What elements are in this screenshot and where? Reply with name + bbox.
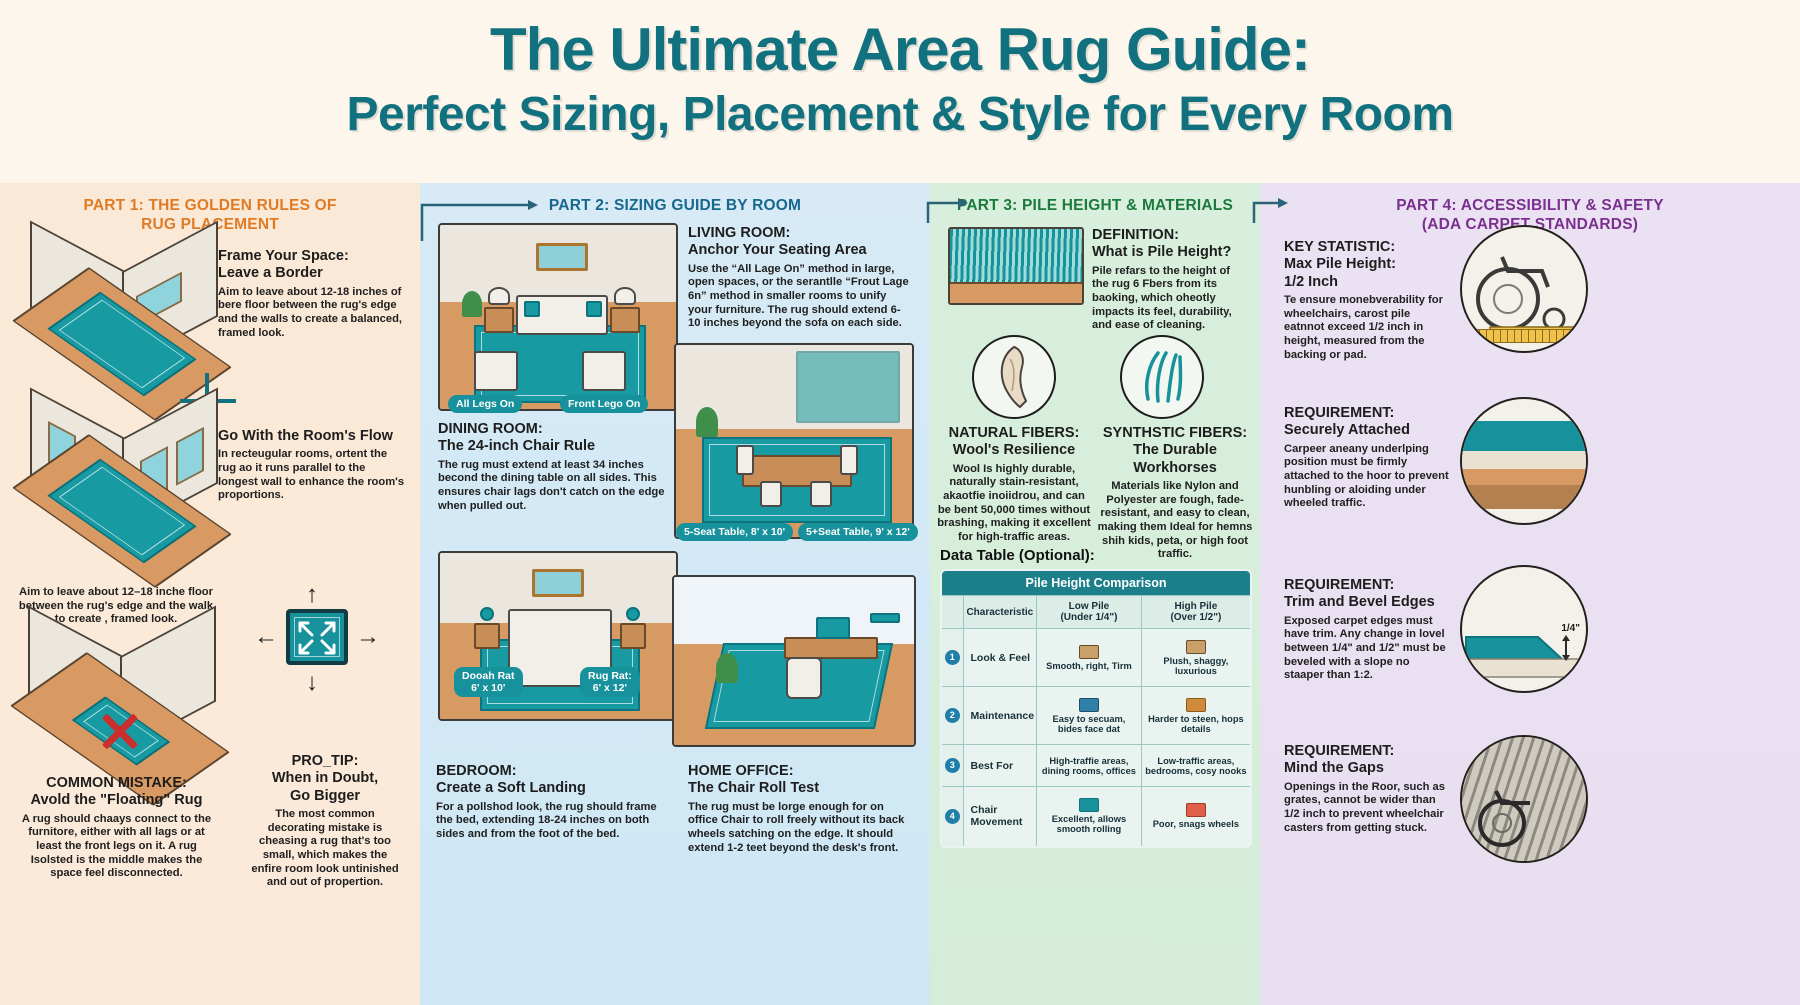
layer-underlay — [1462, 451, 1588, 469]
row-low-pile: High-traffie areas, dining rooms, office… — [1037, 745, 1142, 787]
part1-heading-line1: PART 1: THE GOLDEN RULES OF — [0, 196, 420, 215]
synthetic-body: Materials like Nylon and Polyester are f… — [1096, 480, 1254, 562]
synthetic-fiber-icon — [1120, 335, 1204, 419]
row-index: 1 — [941, 629, 963, 687]
lamp-right — [626, 607, 640, 621]
part4-key-statistic: KEY STATISTIC: Max Pile Height: 1/2 Inch… — [1284, 239, 1446, 362]
col-low-pile-header: Low Pile (Under 1/4") — [1037, 596, 1142, 629]
pile-height-illustration — [948, 227, 1084, 305]
bedroom-body: For a pollshod look, the rug should fram… — [436, 801, 670, 842]
shaggy-rug-icon — [1186, 640, 1206, 654]
tag-line1: Rug Rat: — [588, 670, 632, 682]
living-title: Anchor Your Seating Area — [688, 242, 910, 259]
part1-tip-frame-your-space: Frame Your Space: Leave a Border Aim to … — [218, 248, 404, 340]
protip-body: The most common decorating mistake is ch… — [250, 808, 400, 890]
throw-pillow — [524, 301, 540, 317]
row-characteristic: Look & Feel — [963, 629, 1037, 687]
arrow-right-icon: → — [356, 625, 380, 649]
dining-chair — [810, 481, 832, 507]
protip-line2: Go Bigger — [250, 788, 400, 805]
wool-fiber-icon — [972, 335, 1056, 419]
throw-pillow — [586, 301, 602, 317]
layer-carpet — [1462, 421, 1588, 451]
stat-line1: Max Pile Height: — [1284, 256, 1446, 273]
part2-dining-room-text: DINING ROOM: The 24-inch Chair Rule The … — [438, 421, 670, 513]
stat-body: Te ensure monebverability for wheelchair… — [1284, 294, 1446, 362]
high-pile-label: High Pile — [1144, 601, 1248, 612]
part1-common-mistake: COMMON MISTAKE: Avold the "Floating" Rug… — [14, 775, 219, 881]
lamp-right — [614, 287, 636, 305]
part4-requirement-gaps: REQUIREMENT: Mind the Gaps Openings in t… — [1284, 743, 1452, 835]
wheelchair-illustration — [1460, 225, 1588, 353]
connector-arrow-part3 — [924, 189, 984, 229]
tip-title-line2: Leave a Border — [218, 265, 404, 282]
row-number-badge: 3 — [945, 758, 960, 773]
tag-line2: 6' x 10' — [471, 682, 505, 694]
tip-title-line1: Frame Your Space: — [218, 248, 404, 265]
row-high-pile: Harder to steen, hops details — [1141, 687, 1251, 745]
dining-body: The rug must extend at least 34 inches b… — [438, 459, 670, 514]
wall-shelf — [870, 613, 900, 623]
table-row: 1 Look & Feel Smooth, right, Tirm Plush,… — [941, 629, 1251, 687]
row-number-badge: 1 — [945, 650, 960, 665]
row-low-pile: Easy to secuam, bides face dat — [1037, 687, 1142, 745]
rug-backing — [950, 282, 1082, 303]
natural-title: Wool's Resilience — [936, 442, 1092, 459]
side-table-left — [484, 307, 514, 333]
cell-text: Smooth, right, Tirm — [1046, 661, 1132, 671]
office-kicker: HOME OFFICE: — [688, 763, 910, 780]
natural-body: Wool Is highly durable, naturally stain-… — [936, 463, 1092, 545]
part2-column: PART 2: SIZING GUIDE BY ROOM — [420, 183, 930, 1005]
side-table-right — [610, 307, 640, 333]
dining-kicker: DINING ROOM: — [438, 421, 670, 438]
living-room-scene — [438, 223, 678, 411]
tag-bed-rug-right: Rug Rat: 6' x 12' — [580, 667, 640, 697]
tip-title: Go With the Room's Flow — [218, 428, 408, 445]
ruler-icon — [1464, 329, 1588, 343]
tag-bed-rug-left: Dooah Rat 6' x 10' — [454, 667, 523, 697]
page-title: The Ultimate Area Rug Guide: — [0, 18, 1800, 81]
row-low-pile: Smooth, right, Tirm — [1037, 629, 1142, 687]
table-row: 4 Chair Movement Excellent, allows smoot… — [941, 787, 1251, 847]
plant-icon — [462, 291, 482, 317]
stat-line2: 1/2 Inch — [1284, 274, 1446, 291]
tag-front-legs-on: Front Lego On — [560, 395, 648, 413]
row-high-pile: Poor, snags wheels — [1141, 787, 1251, 847]
req3-body: Openings in the Roor, such as grates, ca… — [1284, 781, 1452, 836]
part2-office-text: HOME OFFICE: The Chair Roll Test The rug… — [688, 763, 910, 855]
part4-column: PART 4: ACCESSIBILITY & SAFETY (ADA CARP… — [1260, 183, 1800, 1005]
part4-heading-line1: PART 4: ACCESSIBILITY & SAFETY — [1260, 196, 1800, 215]
nightstand-left — [474, 623, 500, 649]
columns-container: PART 1: THE GOLDEN RULES OF RUG PLACEMEN… — [0, 183, 1800, 1005]
table-row: 3 Best For High-traffie areas, dining ro… — [941, 745, 1251, 787]
dining-table — [742, 455, 852, 487]
tag-table-small: 5-Seat Table, 8' x 10' — [676, 523, 793, 541]
tip-body: In recteugular rooms, ortent the rug ao … — [218, 448, 408, 503]
expand-rug-icon — [286, 609, 348, 665]
iso-room-flow-illustration — [18, 405, 228, 585]
table-row: 2 Maintenance Easy to secuam, bides face… — [941, 687, 1251, 745]
dining-chair — [760, 481, 782, 507]
arrow-up-icon: ↑ — [306, 583, 318, 607]
part1-tip-room-flow: Go With the Room's Flow In recteugular r… — [218, 428, 408, 503]
part2-bedroom-text: BEDROOM: Create a Soft Landing For a pol… — [436, 763, 670, 842]
row-high-pile: Plush, shaggy, luxurious — [1141, 629, 1251, 687]
arrow-down-icon: ↓ — [306, 671, 318, 695]
infographic-page: The Ultimate Area Rug Guide: Perfect Siz… — [0, 0, 1800, 1005]
carpet-layers-illustration — [1460, 397, 1588, 525]
table-title: Pile Height Comparison — [941, 570, 1251, 596]
connector-arrow-part4 — [1248, 189, 1308, 229]
cell-text: Plush, shaggy, luxurious — [1163, 656, 1228, 676]
definition-title: What is Pile Height? — [1092, 244, 1248, 261]
req3-kicker: REQUIREMENT: — [1284, 743, 1452, 760]
floor-grate-illustration — [1460, 735, 1588, 863]
office-title: The Chair Roll Test — [688, 780, 910, 797]
mistake-kicker: COMMON MISTAKE: — [14, 775, 219, 792]
part3-synthetic-fibers: SYNTHSTIC FIBERS: The Durable Workhorses… — [1096, 425, 1254, 562]
row-number-badge: 4 — [945, 809, 960, 824]
living-body: Use the “All Lage On” method in large, o… — [688, 263, 910, 331]
page-header: The Ultimate Area Rug Guide: Perfect Siz… — [0, 0, 1800, 142]
flat-rug-icon — [1079, 645, 1099, 659]
definition-kicker: DEFINITION: — [1092, 227, 1248, 244]
wall-art-icon — [536, 243, 588, 271]
dining-chair — [736, 445, 754, 475]
req1-kicker: REQUIREMENT: — [1284, 405, 1452, 422]
office-body: The rug must be lorge enough for on offi… — [688, 801, 910, 856]
definition-body: Pile refars to the height of the rug 6 F… — [1092, 265, 1248, 333]
dining-room-scene — [674, 343, 914, 539]
low-pile-sublabel: (Under 1/4") — [1039, 612, 1139, 623]
tag-all-legs-on: All Legs On — [448, 395, 522, 413]
wall-art-icon — [532, 569, 584, 597]
req3-title: Mind the Gaps — [1284, 760, 1452, 777]
part3-column: PART 3: PILE HEIGHT & MATERIALS DEFINITI… — [930, 183, 1260, 1005]
synthetic-title: The Durable Workhorses — [1096, 442, 1254, 477]
office-chair-teal-icon — [1079, 798, 1099, 812]
tip-body: Aim to leave about 12-18 inches of bere … — [218, 286, 404, 341]
row-characteristic: Maintenance — [963, 687, 1037, 745]
col-high-pile-header: High Pile (Over 1/2") — [1141, 596, 1251, 629]
desk — [784, 637, 878, 659]
row-index: 2 — [941, 687, 963, 745]
protip-line1: When in Doubt, — [250, 770, 400, 787]
layer-pad — [1462, 469, 1588, 485]
row-index: 4 — [941, 787, 963, 847]
cell-text: Harder to steen, hops details — [1148, 714, 1244, 734]
row-high-pile: Low-traffic areas, bedrooms, cosy nooks — [1141, 745, 1251, 787]
scene-wall — [674, 577, 914, 644]
high-pile-sublabel: (Over 1/2") — [1144, 612, 1248, 623]
table-caption-row: Pile Height Comparison — [941, 570, 1251, 596]
row-number-badge: 2 — [945, 708, 960, 723]
armchair-right — [582, 351, 626, 391]
bedroom-kicker: BEDROOM: — [436, 763, 670, 780]
pro-tip-icon-cluster: ↑ ← → ↓ — [262, 583, 372, 703]
window-icon — [176, 427, 204, 486]
living-kicker: LIVING ROOM: — [688, 225, 910, 242]
part4-requirement-attached: REQUIREMENT: Securely Attached Carpeer a… — [1284, 405, 1452, 511]
home-office-scene — [672, 575, 916, 747]
req2-body: Exposed carpet edges must have trim. Any… — [1284, 615, 1452, 683]
part1-pro-tip: PRO_TIP: When in Doubt, Go Bigger The mo… — [250, 753, 400, 890]
part4-requirement-bevel: REQUIREMENT: Trim and Bevel Edges Expose… — [1284, 577, 1452, 683]
mistake-body: A rug should chaays connect to the furni… — [14, 813, 219, 881]
pile-height-comparison-table: Pile Height Comparison Characteristic Lo… — [940, 569, 1252, 848]
synthetic-kicker: SYNTHSTIC FIBERS: — [1096, 425, 1254, 442]
mistake-title: Avold the "Floating" Rug — [14, 792, 219, 809]
curtains — [796, 351, 900, 423]
row-characteristic: Best For — [963, 745, 1037, 787]
part2-living-room-text: LIVING ROOM: Anchor Your Seating Area Us… — [688, 225, 910, 331]
office-chair — [786, 657, 822, 699]
page-subtitle: Perfect Sizing, Placement & Style for Ev… — [0, 87, 1800, 142]
row-characteristic: Chair Movement — [963, 787, 1037, 847]
nightstand-right — [620, 623, 646, 649]
arrow-left-icon: ← — [254, 625, 278, 649]
tag-line2: 6' x 12' — [593, 682, 627, 694]
vacuum-icon — [1079, 698, 1099, 712]
office-chair-red-icon — [1186, 803, 1206, 817]
monitor-icon — [816, 617, 850, 639]
tag-line1: Dooah Rat — [462, 670, 515, 682]
rug-fibers — [950, 229, 1082, 282]
row-low-pile: Excellent, allows smooth rolling — [1037, 787, 1142, 847]
req2-kicker: REQUIREMENT: — [1284, 577, 1452, 594]
lamp-left — [488, 287, 510, 305]
row-index: 3 — [941, 745, 963, 787]
col-characteristic-header: Characteristic — [963, 596, 1037, 629]
part1-column: PART 1: THE GOLDEN RULES OF RUG PLACEMEN… — [0, 183, 420, 1005]
broom-icon — [1186, 698, 1206, 712]
cell-text: Excellent, allows smooth rolling — [1052, 814, 1126, 834]
lamp-left — [480, 607, 494, 621]
armchair-left — [474, 351, 518, 391]
plant-icon — [696, 407, 718, 437]
col-index-header — [941, 596, 963, 629]
low-pile-label: Low Pile — [1039, 601, 1139, 612]
dining-chair — [840, 445, 858, 475]
stat-kicker: KEY STATISTIC: — [1284, 239, 1446, 256]
part3-definition: DEFINITION: What is Pile Height? Pile re… — [1092, 227, 1248, 333]
cell-text: Easy to secuam, bides face dat — [1053, 714, 1126, 734]
x-mark-icon — [98, 709, 142, 753]
part3-natural-fibers: NATURAL FIBERS: Wool's Resilience Wool I… — [936, 425, 1092, 545]
req2-title: Trim and Bevel Edges — [1284, 594, 1452, 611]
data-table-label: Data Table (Optional): — [940, 547, 1095, 564]
bedroom-title: Create a Soft Landing — [436, 780, 670, 797]
natural-kicker: NATURAL FIBERS: — [936, 425, 1092, 442]
bevel-measure-label: 1/4" — [1561, 623, 1580, 634]
req1-title: Securely Attached — [1284, 422, 1452, 439]
layer-subfloor — [1462, 485, 1588, 509]
bevel-edge-illustration: 1/4" — [1460, 565, 1588, 693]
protip-kicker: PRO_TIP: — [250, 753, 400, 770]
req1-body: Carpeer aneany underlping position must … — [1284, 443, 1452, 511]
cell-text: Poor, snags wheels — [1153, 819, 1239, 829]
tag-table-large: 5+Seat Table, 9' x 12' — [798, 523, 918, 541]
dining-title: The 24-inch Chair Rule — [438, 438, 670, 455]
table-header-row: Characteristic Low Pile (Under 1/4") Hig… — [941, 596, 1251, 629]
plant-icon — [716, 653, 738, 683]
